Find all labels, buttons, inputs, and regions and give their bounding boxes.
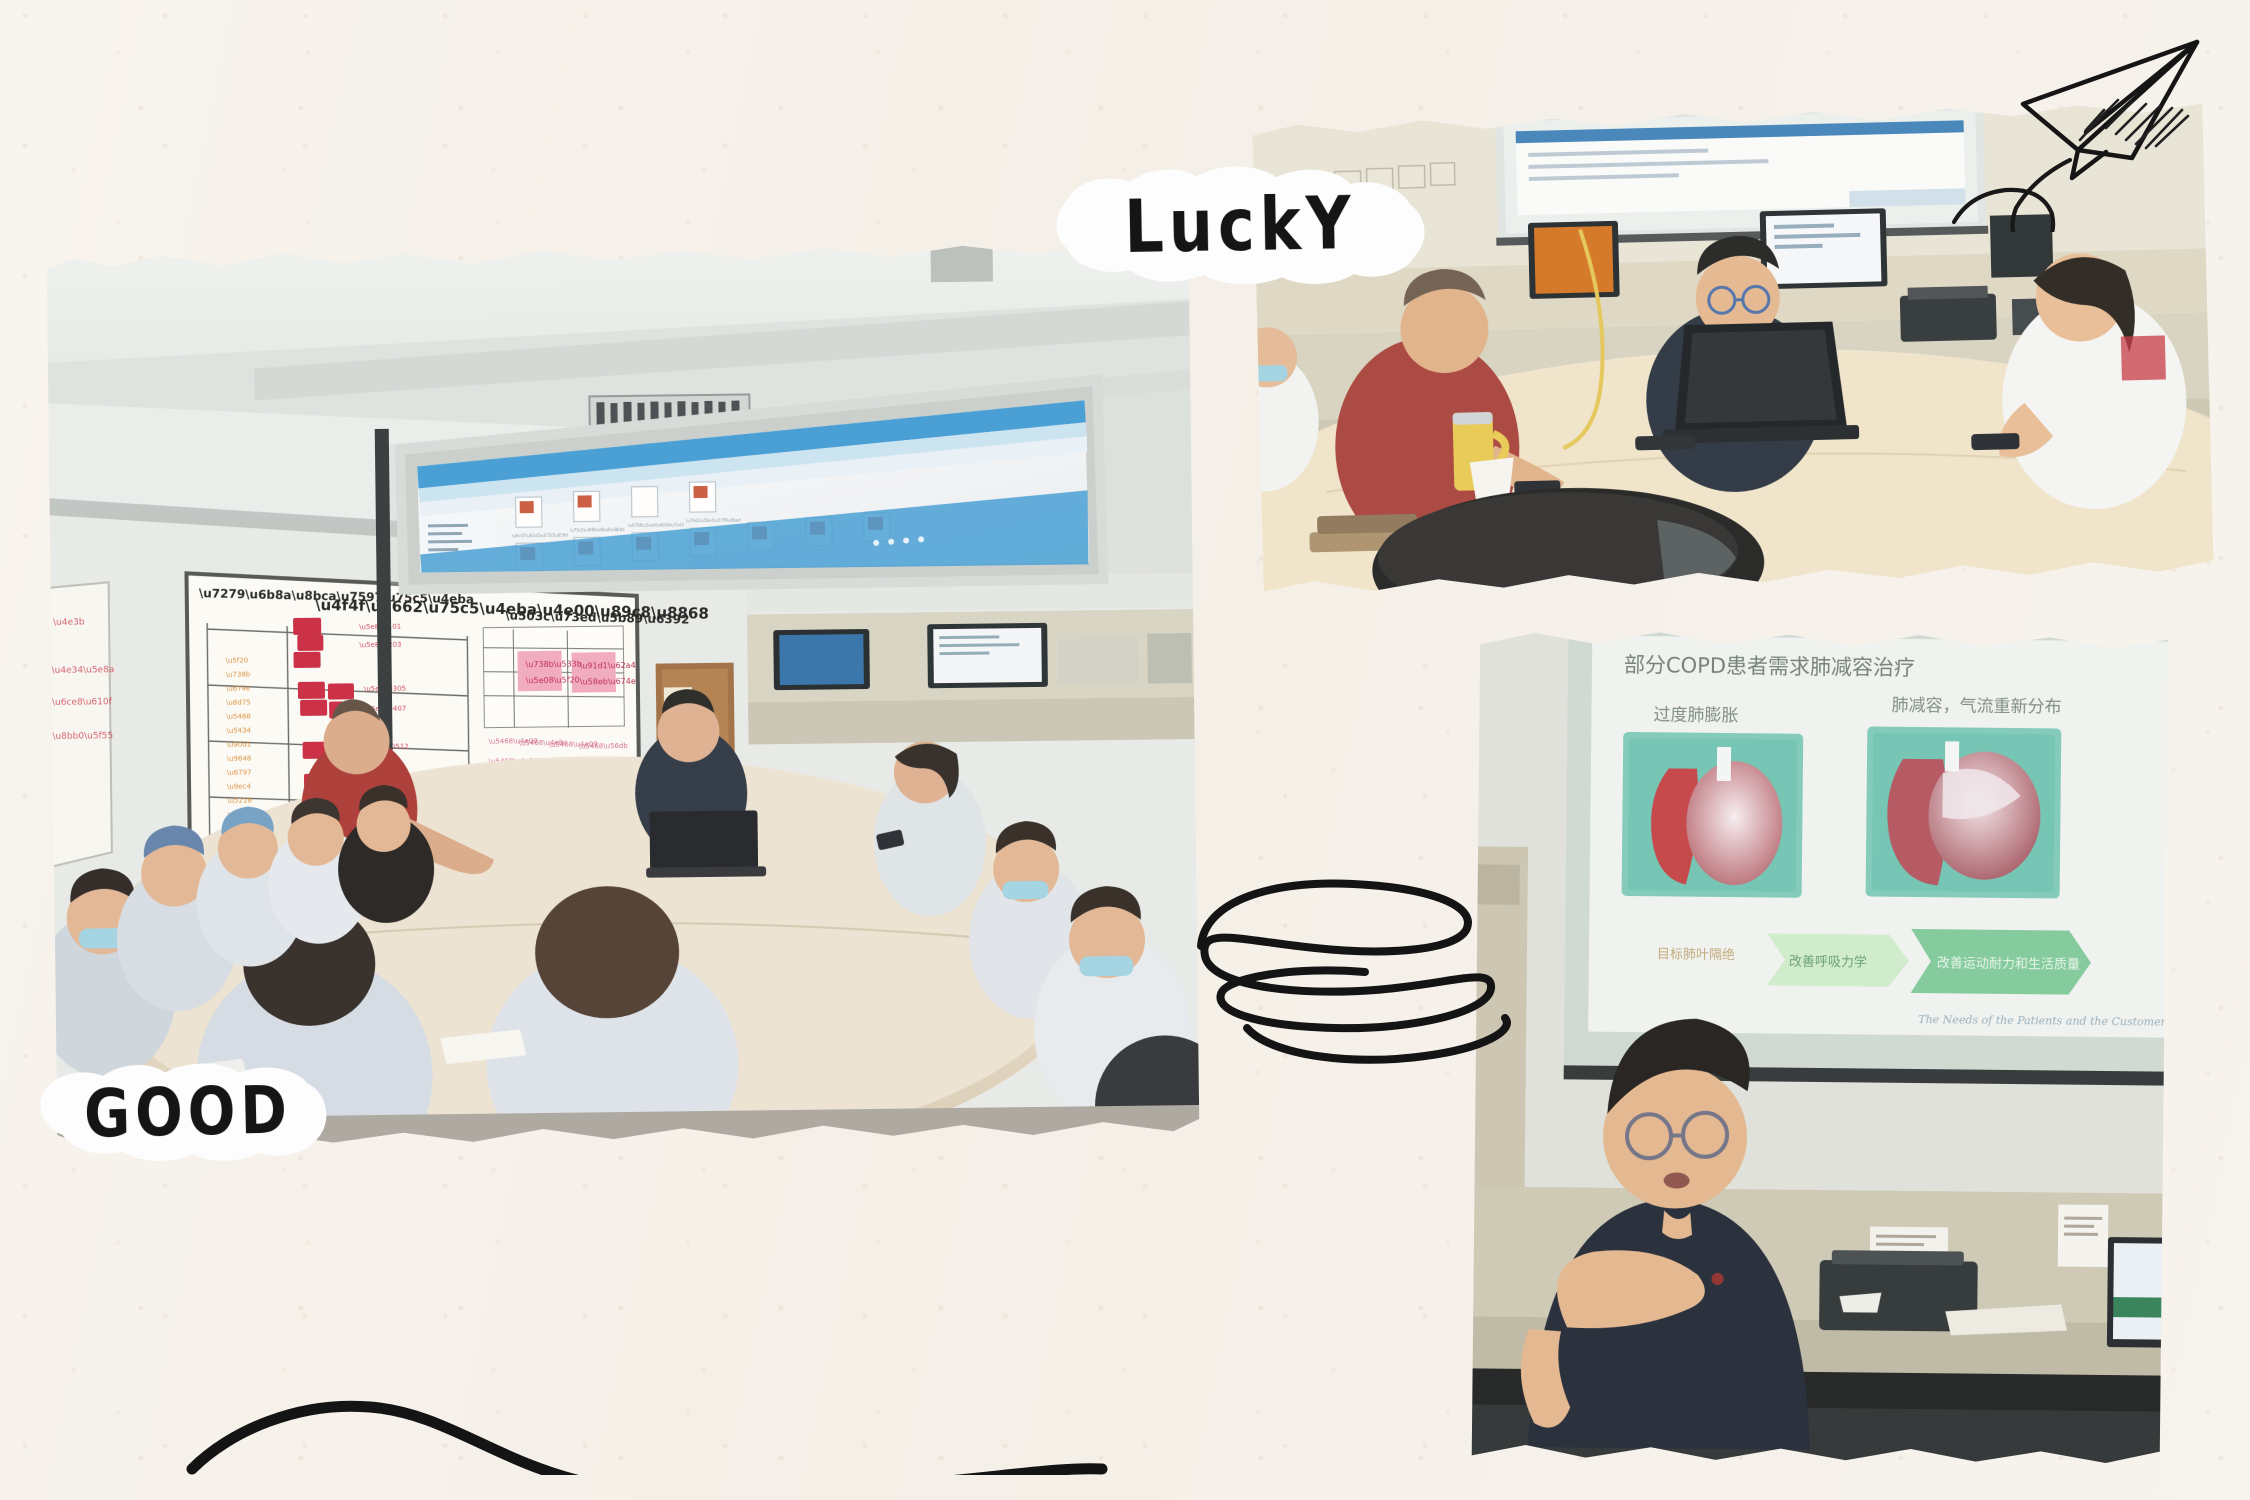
photo-meeting-room-scene: \u4e3b\u4e34\u5e8a \u6ce8\u610f\u8bb0\u5… [43,239,1204,1151]
meeting-room-illustration: \u4e3b\u4e34\u5e8a \u6ce8\u610f\u8bb0\u5… [43,239,1204,1151]
photo-presenter[interactable]: 部分COPD患者需求肺减容治疗 过度肺膨胀 肺减容，气流重新分布 目标肺叶隔绝 [1466,626,2175,1468]
photo-meeting-room[interactable]: \u4e3b\u4e34\u5e8a \u6ce8\u610f\u8bb0\u5… [43,239,1204,1151]
sticker-good-text: GOOD [83,1071,292,1152]
sticker-lucky-text: LuckY [1124,179,1357,269]
sticker-lucky[interactable]: LuckY [1044,157,1436,292]
wavy-underline-doodle [40,1255,1440,1475]
sticker-good[interactable]: GOOD [27,1055,349,1170]
photo-presenter-scene: 部分COPD患者需求肺减容治疗 过度肺膨胀 肺减容，气流重新分布 目标肺叶隔绝 [1466,626,2175,1468]
collage-canvas: \u4e3b\u4e34\u5e8a \u6ce8\u610f\u8bb0\u5… [0,0,2250,1500]
presenter-illustration: 部分COPD患者需求肺减容治疗 过度肺膨胀 肺减容，气流重新分布 目标肺叶隔绝 [1466,626,2175,1468]
